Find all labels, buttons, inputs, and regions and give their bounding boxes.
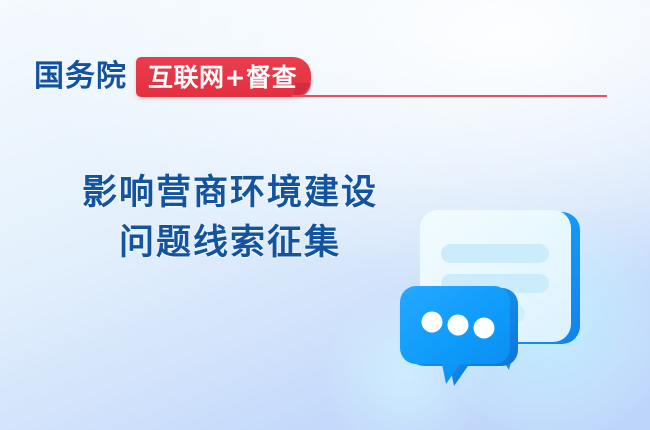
page-title-line-2: 问题线索征集 — [40, 218, 420, 268]
page-title: 影响营商环境建设 问题线索征集 — [40, 168, 420, 268]
banner-root: 国务院 互联网+督查 影响营商环境建设 问题线索征集 — [0, 0, 650, 430]
header-divider-rule — [292, 95, 607, 97]
small-speech-bubble — [400, 286, 518, 386]
campaign-badge: 互联网+督查 — [136, 57, 311, 97]
page-title-line-1: 影响营商环境建设 — [40, 168, 420, 218]
campaign-badge-label: 互联网+督查 — [148, 65, 297, 90]
banner-header: 国务院 互联网+督查 — [34, 56, 311, 98]
speech-bubbles-illustration — [398, 198, 638, 403]
organization-name: 国务院 — [34, 62, 127, 92]
